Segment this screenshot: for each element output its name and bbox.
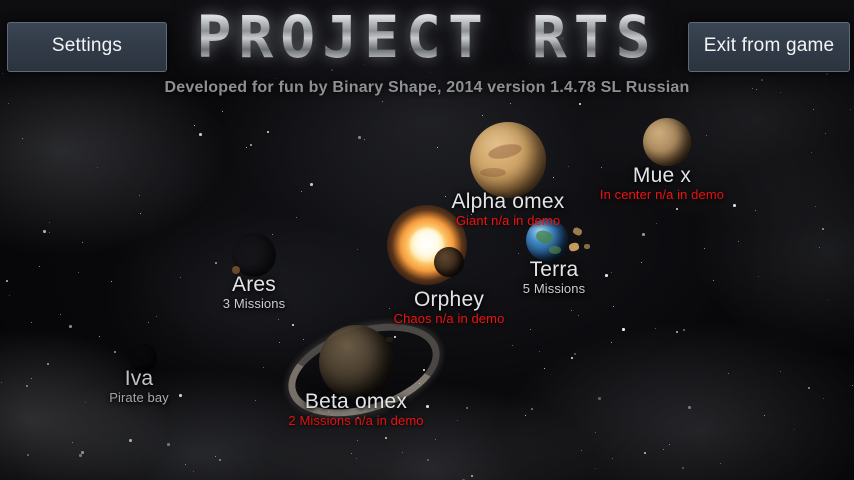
settings-button[interactable]: Settings (7, 22, 167, 72)
game-subtitle: Developed for fun by Binary Shape, 2014 … (0, 79, 854, 97)
game-screen: Alpha omex Giant n/a in demo Mue x In ce… (0, 0, 854, 480)
exit-from-game-button[interactable]: Exit from game (688, 22, 850, 72)
screen-vignette (0, 0, 854, 480)
